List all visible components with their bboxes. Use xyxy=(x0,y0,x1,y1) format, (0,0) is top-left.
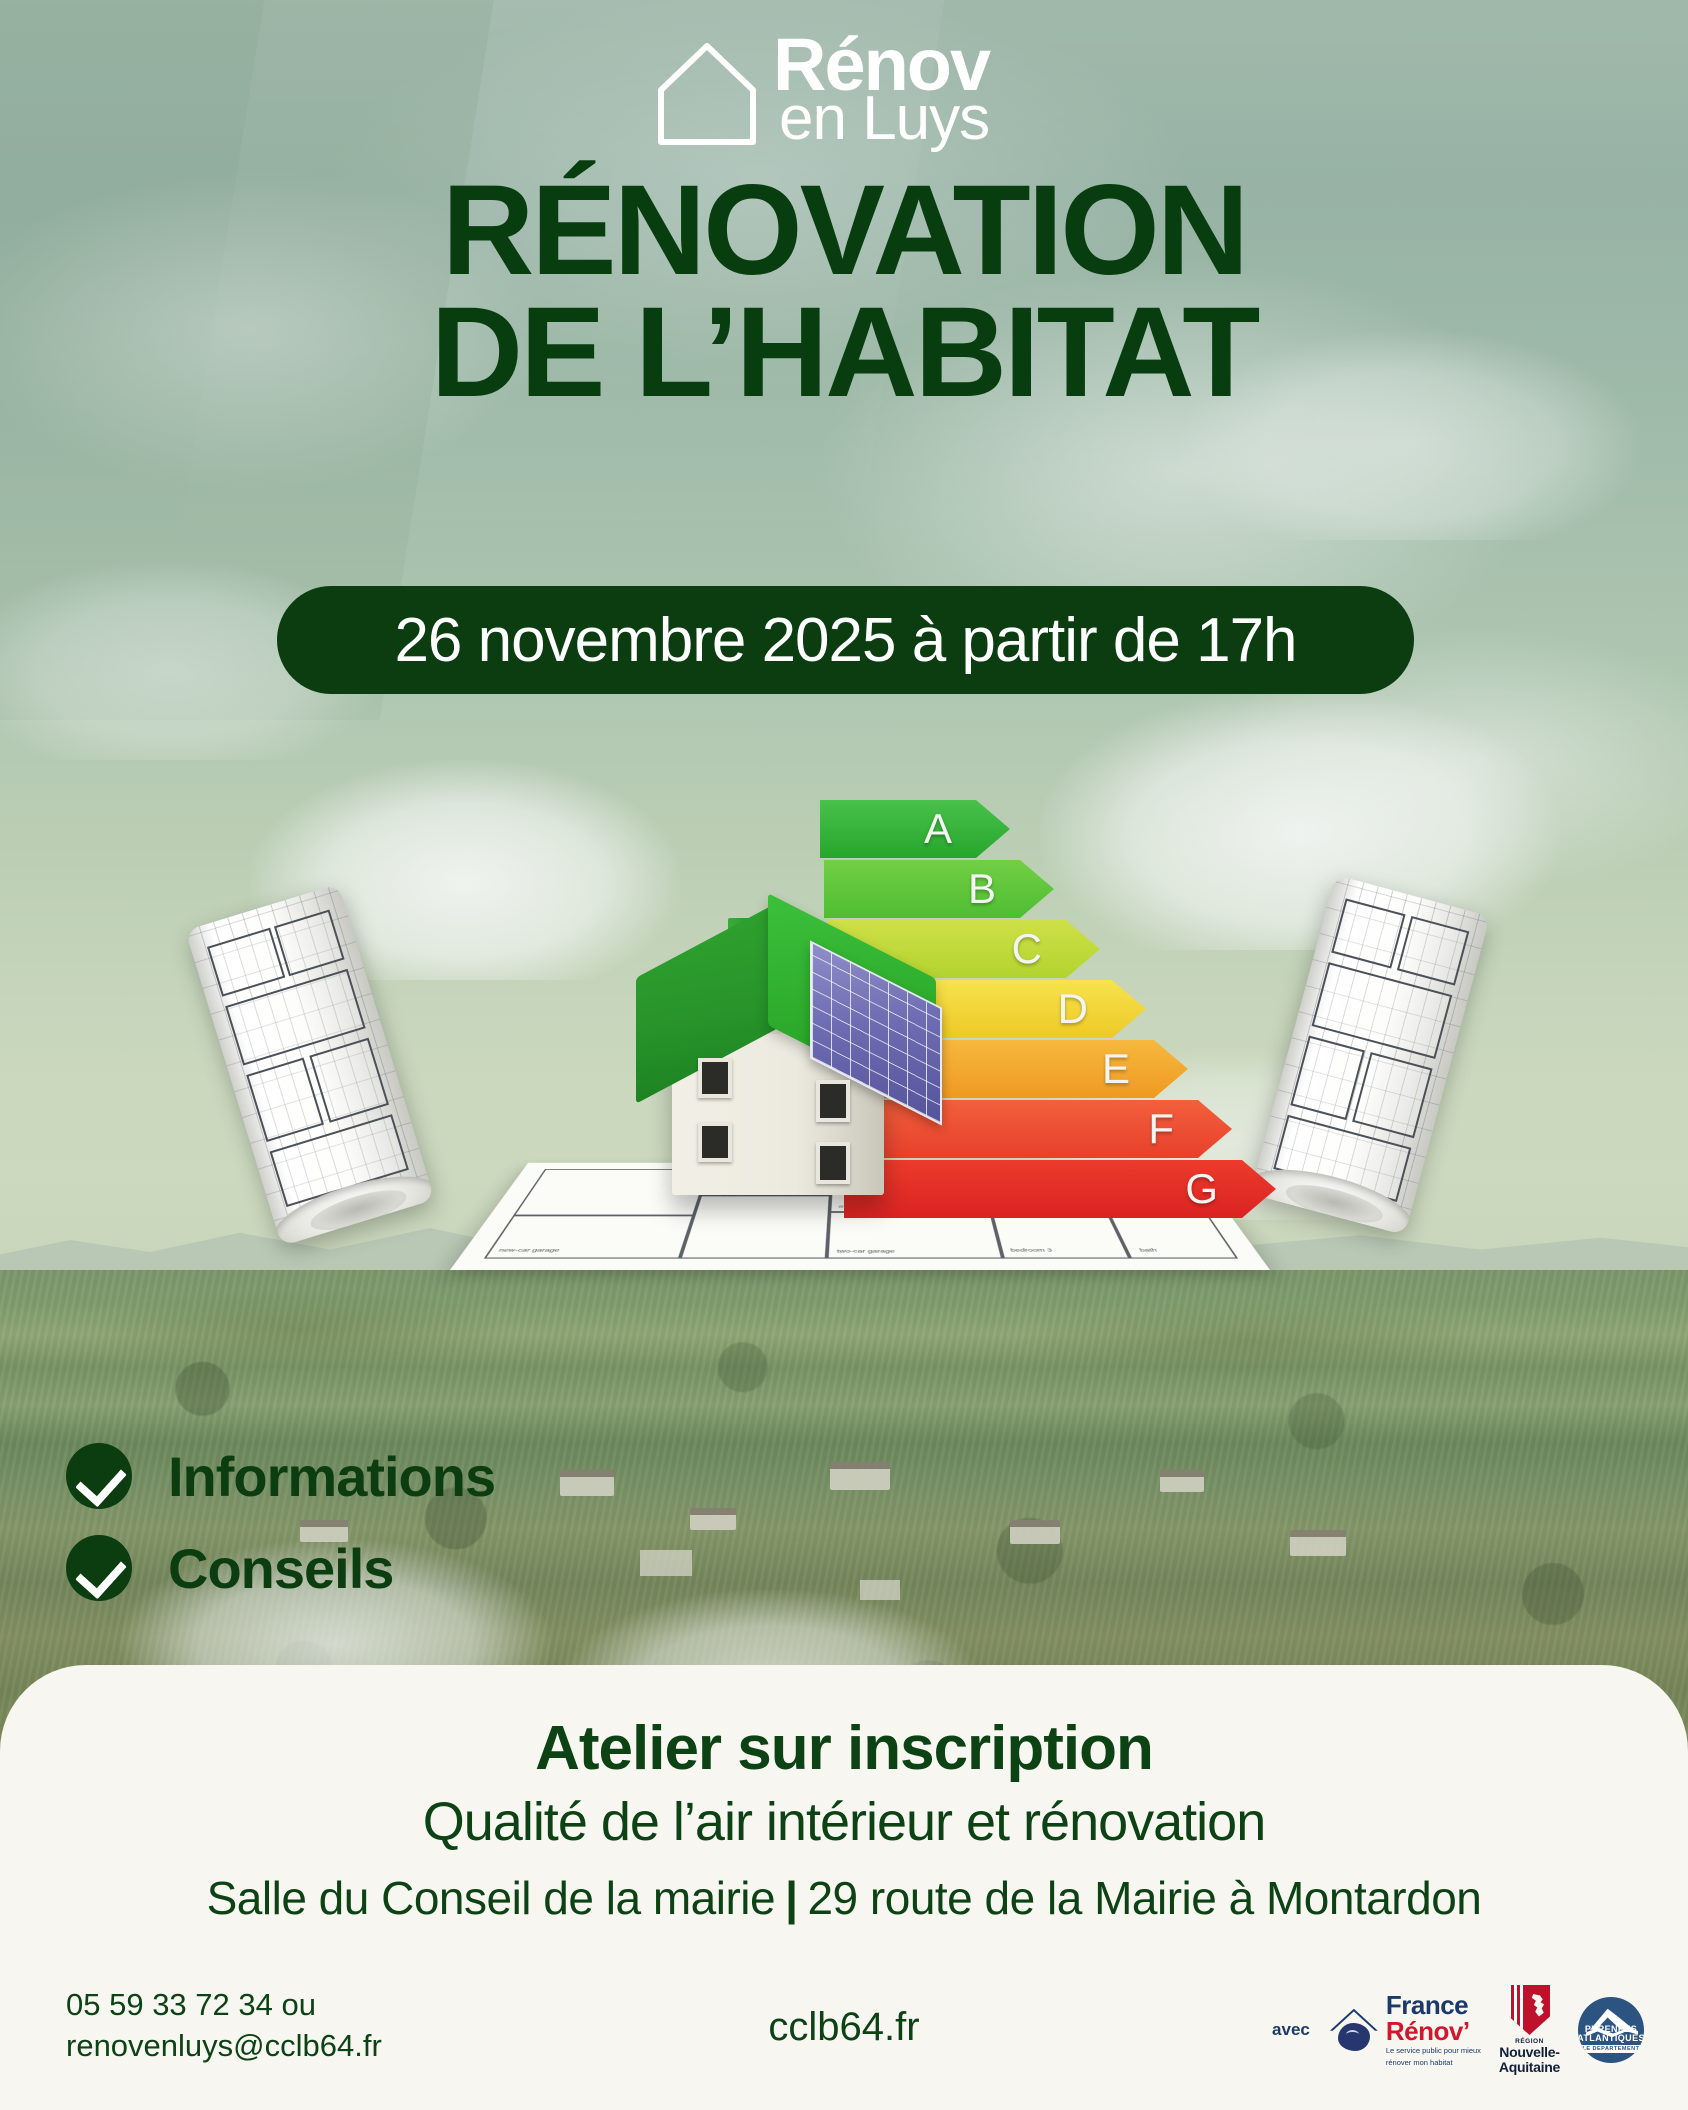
logo-word-enluys: en Luys xyxy=(779,88,989,150)
region-nouvelle-aquitaine-logo: RÉGION Nouvelle- Aquitaine xyxy=(1499,1985,1560,2074)
france-renov-line1: France xyxy=(1386,1992,1481,2018)
france-renov-tagline-2: rénover mon habitat xyxy=(1386,2058,1481,2067)
brand-logo: Rénov en Luys xyxy=(655,22,1035,152)
list-item-label: Informations xyxy=(168,1444,495,1509)
village-house xyxy=(1290,1530,1346,1556)
blueprint-roll-left xyxy=(185,884,434,1246)
list-item-label: Conseils xyxy=(168,1536,393,1601)
france-renov-tagline-1: Le service public pour mieux xyxy=(1386,2046,1481,2055)
region-name-line1: Nouvelle- xyxy=(1499,2045,1560,2060)
shield-icon xyxy=(1508,1985,1550,2035)
energy-arrow-a: A xyxy=(820,800,1010,858)
energy-arrow-label: G xyxy=(1185,1165,1218,1213)
date-banner-text: 26 novembre 2025 à partir de 17h xyxy=(394,605,1296,676)
info-card: Atelier sur inscription Qualité de l’air… xyxy=(0,1665,1688,2110)
check-circle-icon xyxy=(66,1443,132,1509)
hero-illustration: new-car garage bedroom 2 11 x 11 master … xyxy=(220,760,1480,1320)
house-3d-icon xyxy=(620,890,950,1220)
venue-separator: | xyxy=(775,1872,807,1924)
energy-arrow-label: A xyxy=(924,805,952,853)
france-renov-line2: Rénov’ xyxy=(1386,2018,1481,2044)
energy-arrow-label: E xyxy=(1102,1045,1130,1093)
village-house xyxy=(690,1508,736,1530)
card-title: Atelier sur inscription xyxy=(0,1713,1688,1784)
village-house xyxy=(560,1470,614,1496)
benefits-list: Informations Conseils xyxy=(66,1443,495,1627)
card-subtitle: Qualité de l’air intérieur et rénovation xyxy=(0,1791,1688,1853)
window xyxy=(816,1142,850,1184)
smiley-blob-icon xyxy=(1338,2023,1370,2051)
window xyxy=(816,1080,850,1122)
venue-address: 29 route de la Mairie à Montardon xyxy=(807,1872,1481,1924)
village-houses xyxy=(520,1430,1420,1630)
region-name-line2: Aquitaine xyxy=(1499,2060,1560,2075)
window xyxy=(698,1122,732,1162)
department-line3: LE DEPARTEMENT xyxy=(1579,2045,1642,2053)
energy-arrow-label: C xyxy=(1012,925,1042,973)
list-item: Informations xyxy=(66,1443,495,1509)
headline-line-2: DE L’HABITAT xyxy=(0,292,1688,414)
france-renov-logo: France Rénov’ Le service public pour mie… xyxy=(1328,1992,1481,2067)
energy-arrow-label: D xyxy=(1058,985,1088,1033)
france-renov-mark-icon xyxy=(1328,2007,1380,2053)
lion-icon xyxy=(1529,1994,1546,2018)
list-item: Conseils xyxy=(66,1535,495,1601)
energy-arrow-label: F xyxy=(1148,1105,1174,1153)
page-title: RÉNOVATION DE L’HABITAT xyxy=(0,170,1688,413)
date-banner: 26 novembre 2025 à partir de 17h xyxy=(277,586,1414,694)
energy-arrow-label: B xyxy=(968,865,996,913)
village-house xyxy=(1010,1520,1060,1544)
poster-root: Rénov en Luys RÉNOVATION DE L’HABITAT 26… xyxy=(0,0,1688,2110)
check-circle-icon xyxy=(66,1535,132,1601)
house-outline-icon xyxy=(655,38,763,150)
village-house xyxy=(1160,1470,1204,1492)
window xyxy=(698,1058,732,1098)
card-venue-line: Salle du Conseil de la mairie|29 route d… xyxy=(0,1871,1688,1925)
partners-prefix-label: avec xyxy=(1272,2020,1310,2040)
pyrenees-atlantiques-logo: PYRENEES ATLANTIQUES LE DEPARTEMENT xyxy=(1578,1997,1644,2063)
village-house xyxy=(830,1462,890,1490)
france-renov-wordmark: France Rénov’ Le service public pour mie… xyxy=(1386,1992,1481,2067)
venue-name: Salle du Conseil de la mairie xyxy=(207,1872,775,1924)
partner-logos: avec France Rénov’ Le service public pou… xyxy=(1272,1985,1644,2074)
